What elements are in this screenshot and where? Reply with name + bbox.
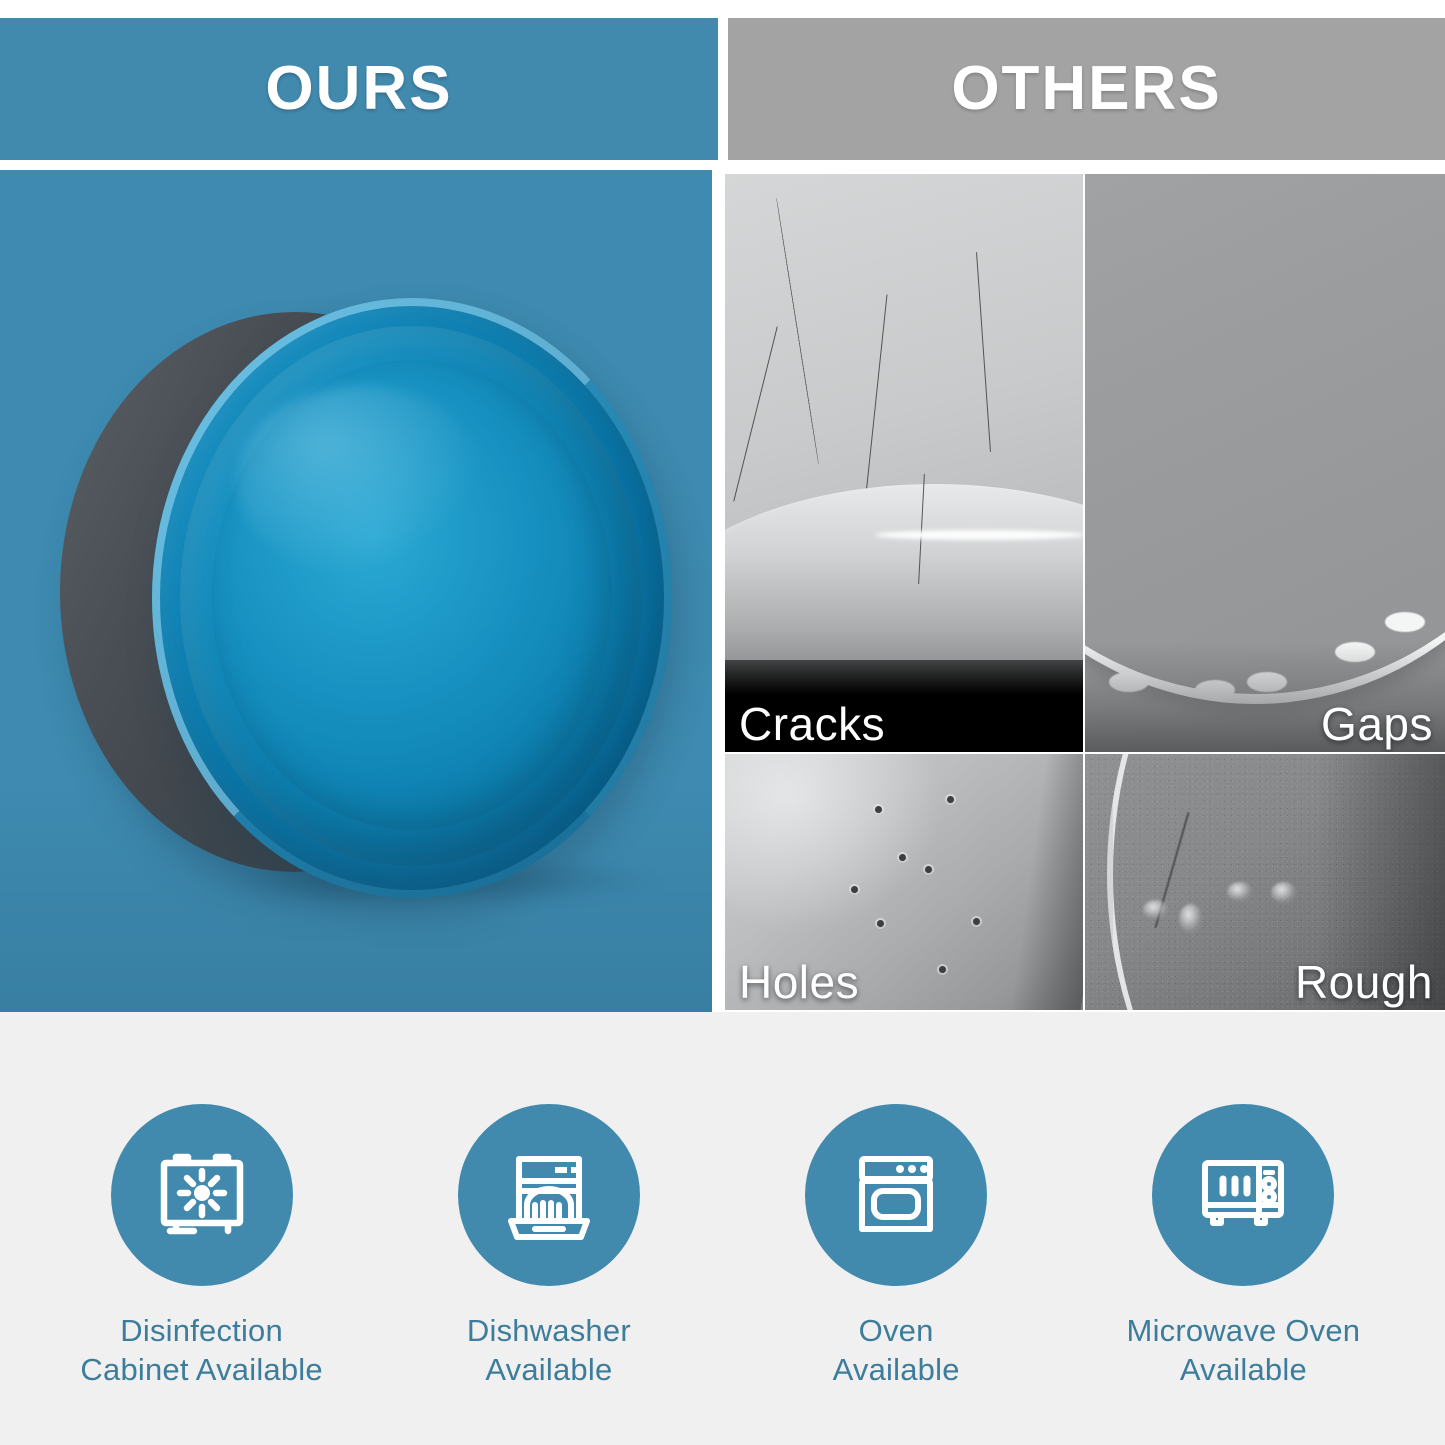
bowl-rim-highlight (152, 298, 672, 898)
feature-label-oven: Oven Available (833, 1312, 960, 1390)
oven-icon (805, 1104, 987, 1286)
pinhole (875, 806, 882, 813)
crack-line (733, 327, 778, 502)
defect-tile-rough: Rough (1085, 754, 1445, 1010)
bowl-gloss-highlight (236, 386, 486, 576)
feature-label-microwave: Microwave Oven Available (1127, 1312, 1361, 1390)
comparison-header: OURS OTHERS (0, 18, 1445, 160)
feature-item-disinfection: Disinfection Cabinet Available (37, 1104, 367, 1390)
feature-item-microwave: Microwave Oven Available (1078, 1104, 1408, 1390)
others-defect-grid: Cracks Gaps (725, 174, 1445, 1012)
crack-line (864, 295, 888, 514)
defect-tile-cracks: Cracks (725, 174, 1083, 752)
feature-label-disinfection: Disinfection Cabinet Available (80, 1312, 322, 1390)
infographic-root: OURS OTHERS (0, 0, 1445, 1445)
crack-line (776, 198, 819, 465)
disinfection-cabinet-icon (111, 1104, 293, 1286)
others-title: OTHERS (951, 58, 1221, 120)
comparison-image-band: Cracks Gaps (0, 170, 1445, 1012)
defect-label-gaps: Gaps (1321, 700, 1433, 748)
defect-label-cracks: Cracks (739, 700, 885, 748)
surface-blemish (1179, 904, 1203, 934)
gap-bump (1385, 612, 1425, 632)
surface-blemish (1227, 882, 1253, 902)
surface-edge (1006, 754, 1083, 1010)
feature-item-oven: Oven Available (731, 1104, 1061, 1390)
surface-sheen (725, 754, 945, 934)
crack-line (976, 252, 991, 452)
ours-product-photo (0, 170, 712, 1012)
defect-tile-gaps: Gaps (1085, 174, 1445, 752)
pinhole (925, 866, 932, 873)
microwave-oven-icon (1152, 1104, 1334, 1286)
defect-tile-holes: Holes (725, 754, 1083, 1010)
dishwasher-icon (458, 1104, 640, 1286)
product-bowl (40, 290, 680, 900)
defect-label-rough: Rough (1295, 958, 1433, 1006)
surface-blemish (1271, 882, 1297, 904)
pinhole (939, 966, 946, 973)
pinhole (947, 796, 954, 803)
surface-blemish (1143, 900, 1169, 920)
pinhole (851, 886, 858, 893)
ours-title: OURS (265, 58, 452, 120)
feature-item-dishwasher: Dishwasher Available (384, 1104, 714, 1390)
bowl-drop-shadow (230, 855, 660, 907)
feature-label-dishwasher: Dishwasher Available (467, 1312, 631, 1390)
defect-label-holes: Holes (739, 958, 859, 1006)
ours-banner: OURS (0, 18, 718, 160)
feature-list: Disinfection Cabinet Available Dishwashe… (0, 1012, 1445, 1445)
others-banner: OTHERS (728, 18, 1445, 160)
pinhole (973, 918, 980, 925)
pinhole (899, 854, 906, 861)
rim-glint (875, 530, 1083, 540)
pinhole (877, 920, 884, 927)
